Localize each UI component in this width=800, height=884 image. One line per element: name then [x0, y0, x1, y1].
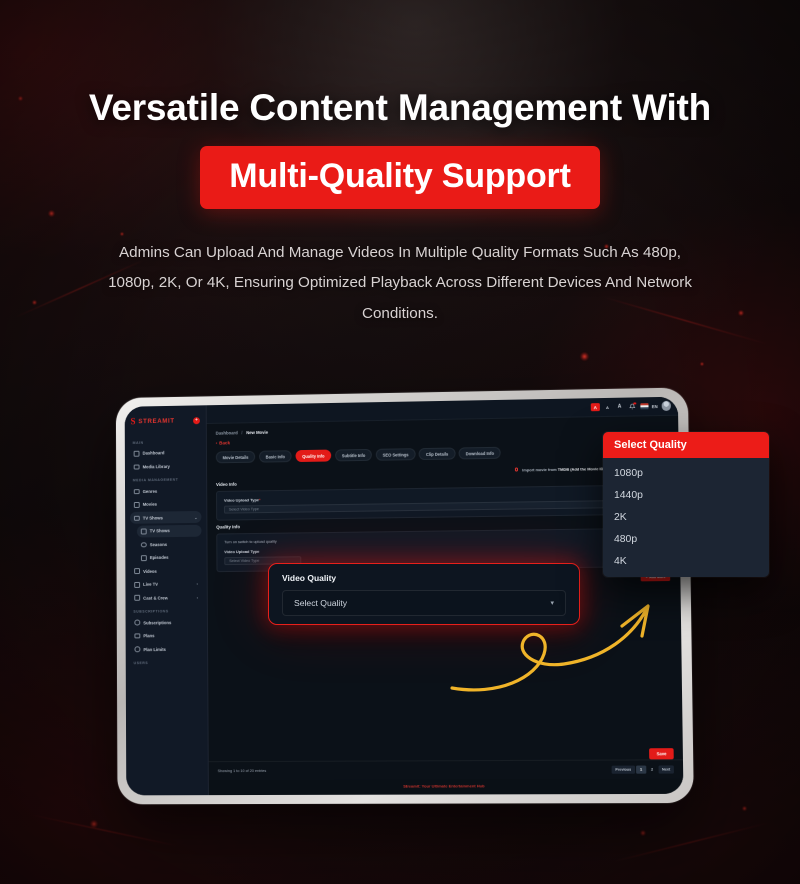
sidebar-item-label: Videos — [143, 569, 157, 574]
dropdown-option-4k[interactable]: 4K — [603, 550, 769, 572]
sidebar-item-label: Seasons — [150, 542, 167, 547]
dropdown-option-480p[interactable]: 480p — [603, 528, 769, 550]
page-root: Versatile Content Management With Multi-… — [0, 0, 800, 884]
dropdown-options: 1080p1440p2K480p4K — [603, 458, 769, 577]
table-footer: Showing 1 to 10 of 20 entries Previous12… — [209, 759, 684, 780]
ember-spark — [700, 362, 704, 366]
chevron-down-icon: ▾ — [550, 599, 554, 607]
sidebar-item-label: TV Shows — [143, 515, 163, 520]
required-mark: * — [259, 497, 261, 502]
grid-icon — [134, 451, 139, 457]
hero-badge-wrap: Multi-Quality Support — [0, 146, 800, 209]
sidebar-item-dashboard[interactable]: Dashboard — [130, 447, 201, 460]
broadcast-icon — [134, 582, 139, 588]
sidebar-item-media-library[interactable]: Media Library — [130, 460, 201, 473]
import-label-strong: TMDB (Add the Movie ID) — [558, 466, 605, 472]
tag-icon — [134, 489, 139, 495]
sidebar-item-plan-limits[interactable]: Plan Limits — [131, 643, 203, 655]
sidebar-item-cast-crew[interactable]: Cast & Crew› — [130, 591, 202, 604]
video-quality-highlight-card: Video Quality Select Quality ▾ — [268, 563, 580, 625]
sidebar-item-plans[interactable]: Plans — [130, 629, 202, 642]
sidebar-item-label: Genres — [143, 489, 157, 494]
ember-spark — [580, 352, 589, 361]
sidebar-item-label: TV Shows — [150, 529, 170, 534]
sidebar-item-subscriptions[interactable]: Subscriptions — [130, 616, 202, 629]
sidebar-item-label: Live TV — [143, 582, 158, 587]
tv-icon — [134, 515, 139, 521]
flag-icon[interactable] — [640, 404, 648, 410]
sidebar-item-label: Episodes — [150, 555, 169, 560]
gauge-icon — [134, 647, 139, 653]
breadcrumb-separator: / — [241, 430, 242, 435]
chevron-right-icon: › — [197, 581, 198, 586]
sidebar-item-movies[interactable]: Movies — [130, 498, 201, 511]
pagination-next[interactable]: Next — [658, 765, 674, 774]
pagination-2[interactable]: 2 — [647, 765, 657, 774]
sidebar-item-label: Plan Limits — [143, 647, 165, 652]
sidebar-section-label: MAIN — [133, 440, 201, 445]
sidebar-item-tv-shows[interactable]: TV Shows⌄ — [130, 511, 201, 524]
hero-badge: Multi-Quality Support — [200, 146, 599, 209]
tab-seo-settings[interactable]: SEO Settings — [376, 448, 416, 461]
video-quality-select-value: Select Quality — [294, 598, 347, 608]
font-decrease-button[interactable]: A — [603, 403, 612, 412]
list-icon — [141, 555, 146, 561]
save-button[interactable]: Save — [649, 748, 673, 759]
import-radio[interactable] — [515, 468, 518, 471]
sidebar-nav: MAINDashboardMedia LibraryMEDIA MANAGEME… — [125, 430, 207, 668]
chevron-right-icon: › — [197, 595, 198, 600]
sidebar-item-label: Movies — [143, 502, 157, 507]
app-sidebar: S STREAMIT + MAINDashboardMedia LibraryM… — [125, 405, 209, 795]
app-brandline: Streamit: Your Ultimate Entertainment Hu… — [209, 779, 684, 796]
tab-basic-info[interactable]: Basic Info — [259, 450, 292, 463]
sidebar-item-tv-shows[interactable]: TV Shows — [137, 525, 202, 538]
quality-switch-note: Turn on switch to upload quality — [224, 534, 662, 544]
ember-spark — [640, 830, 646, 836]
pagination-1[interactable]: 1 — [636, 765, 646, 774]
video-quality-select[interactable]: Select Quality ▾ — [282, 590, 566, 616]
language-label[interactable]: EN — [652, 404, 658, 409]
sidebar-item-episodes[interactable]: Episodes — [137, 551, 202, 564]
refresh-icon — [134, 620, 139, 626]
sidebar-item-label: Subscriptions — [143, 620, 171, 625]
tv-icon — [141, 529, 146, 535]
users-icon — [134, 595, 139, 601]
sidebar-item-label: Cast & Crew — [143, 595, 168, 600]
sidebar-item-seasons[interactable]: Seasons — [137, 538, 202, 551]
accessibility-button[interactable]: A — [591, 403, 600, 412]
video-quality-title: Video Quality — [282, 573, 566, 583]
tab-subtitle-info[interactable]: Subtitle Info — [335, 449, 372, 462]
sidebar-item-videos[interactable]: Videos — [130, 565, 202, 578]
ember-spark — [742, 806, 747, 811]
back-label: Back — [219, 440, 230, 445]
breadcrumb-current: New Movie — [246, 430, 268, 435]
sidebar-item-genres[interactable]: Genres — [130, 485, 201, 498]
import-label: Import movie from TMDB (Add the Movie ID… — [522, 466, 605, 472]
avatar[interactable] — [661, 401, 671, 411]
quality-upload-type-label: Video Upload Type — [224, 543, 662, 553]
card-icon — [134, 633, 139, 639]
quality-upload-type-value: Select Video Type — [229, 559, 259, 563]
sidebar-section-label: MEDIA MANAGEMENT — [133, 478, 201, 483]
film-icon — [134, 502, 139, 508]
dropdown-header: Select Quality — [603, 432, 769, 458]
layers-icon — [141, 542, 146, 548]
import-label-prefix: Import movie from — [522, 467, 556, 473]
chevron-left-icon: ‹ — [216, 441, 218, 446]
sidebar-item-label: Plans — [143, 633, 154, 638]
dropdown-option-2k[interactable]: 2K — [603, 506, 769, 528]
pagination: Previous12Next — [612, 765, 674, 774]
video-icon — [134, 569, 139, 575]
tab-download-info[interactable]: Download Info — [459, 447, 501, 460]
tab-clip-details[interactable]: Clip Details — [419, 448, 455, 461]
sidebar-collapse-icon[interactable]: + — [193, 417, 200, 424]
tab-quality-info[interactable]: Quality Info — [295, 450, 331, 463]
folder-icon — [134, 464, 139, 470]
showing-entries-label: Showing 1 to 10 of 20 entries — [218, 769, 267, 773]
dropdown-option-1080p[interactable]: 1080p — [603, 462, 769, 484]
font-increase-button[interactable]: A — [615, 402, 624, 411]
sidebar-section-label: USERS — [134, 661, 203, 666]
logo-mark: S — [131, 417, 136, 426]
form-tabs: Movie DetailsBasic InfoQuality InfoSubti… — [216, 444, 670, 463]
hero-section: Versatile Content Management With Multi-… — [0, 88, 800, 330]
sidebar-section-label: SUBSCRIPTIONS — [133, 609, 202, 614]
bell-icon[interactable] — [627, 402, 636, 411]
sidebar-item-label: Dashboard — [142, 451, 164, 456]
tab-movie-details[interactable]: Movie Details — [216, 451, 256, 464]
hero-description: Admins Can Upload And Manage Videos In M… — [100, 238, 700, 330]
sidebar-item-live-tv[interactable]: Live TV› — [130, 578, 202, 591]
pagination-previous[interactable]: Previous — [612, 765, 635, 774]
app-logo[interactable]: S STREAMIT + — [125, 410, 206, 431]
sidebar-item-label: Media Library — [143, 464, 170, 469]
select-quality-dropdown: Select Quality 1080p1440p2K480p4K — [603, 432, 769, 577]
hero-heading: Versatile Content Management With — [0, 88, 800, 129]
video-upload-type-value: Select Video Type — [229, 507, 259, 511]
breadcrumb-root[interactable]: Dashboard — [216, 430, 238, 435]
logo-text: STREAMIT — [138, 417, 174, 425]
dropdown-option-1440p[interactable]: 1440p — [603, 484, 769, 506]
video-upload-type-label-text: Video Upload Type — [224, 497, 259, 502]
back-button[interactable]: ‹ Back — [216, 433, 670, 446]
chevron-down-icon: ⌄ — [194, 515, 197, 520]
